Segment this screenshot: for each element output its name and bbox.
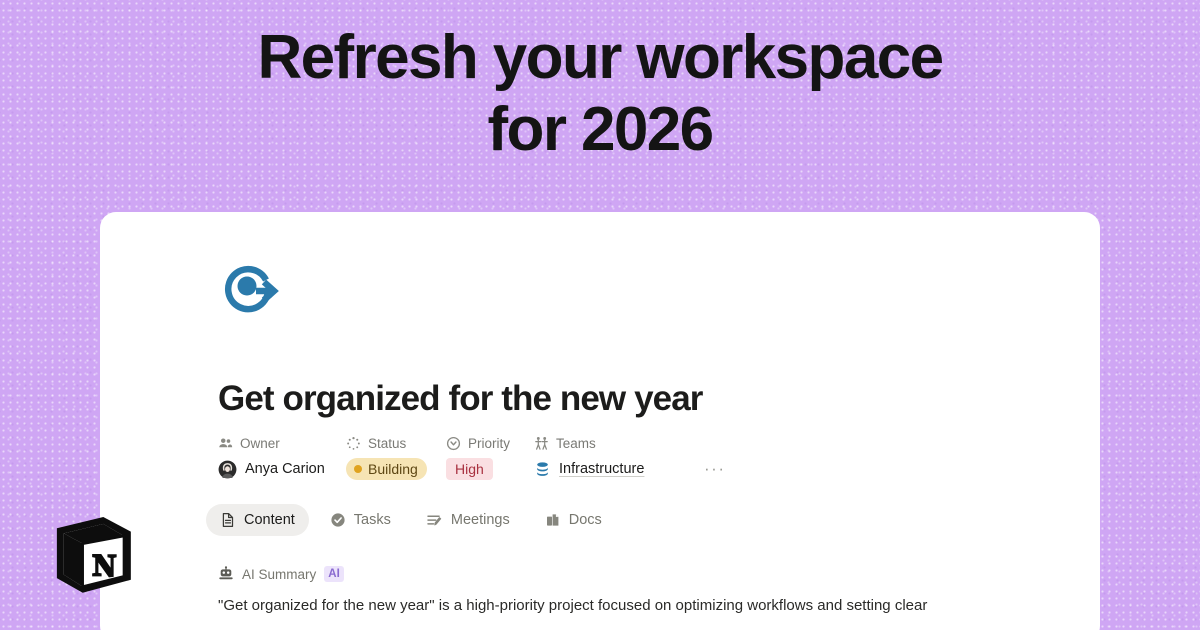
property-value-row: Anya Carion Building High <box>218 456 1100 482</box>
ai-badge: AI <box>324 566 344 582</box>
priority-badge[interactable]: High <box>446 458 493 480</box>
product-screenshot-card: Get organized for the new year Owner <box>100 212 1100 630</box>
property-status-label: Status <box>346 436 446 451</box>
ai-summary-text: "Get organized for the new year" is a hi… <box>218 594 978 617</box>
ai-summary-header: AI Summary AI <box>218 566 1100 582</box>
teams-people-icon <box>534 436 549 451</box>
tab-label: Tasks <box>354 512 391 528</box>
tab-bar: Content Tasks Meetings <box>206 504 1100 536</box>
status-badge[interactable]: Building <box>346 458 427 480</box>
document-icon <box>220 512 236 528</box>
property-teams-label: Teams <box>534 436 684 451</box>
property-label-text: Priority <box>468 436 510 451</box>
property-label-row: Owner Status <box>218 436 1100 451</box>
hero-headline: Refresh your workspace for 2026 <box>0 22 1200 166</box>
property-owner-label: Owner <box>218 436 346 451</box>
property-priority-label: Priority <box>446 436 534 451</box>
property-teams-value[interactable]: Infrastructure <box>534 461 684 478</box>
status-spinner-icon <box>346 436 361 451</box>
property-status-value[interactable]: Building <box>346 458 446 480</box>
property-priority-value[interactable]: High <box>446 458 534 480</box>
property-owner-value[interactable]: Anya Carion <box>218 460 346 479</box>
property-label-text: Owner <box>240 436 280 451</box>
more-properties-button[interactable]: ··· <box>704 464 725 474</box>
robot-icon <box>218 566 234 582</box>
user-avatar <box>218 460 237 479</box>
status-dot-icon <box>354 465 362 473</box>
tab-docs[interactable]: Docs <box>531 504 616 536</box>
stacked-pages-icon <box>545 512 561 528</box>
tab-tasks[interactable]: Tasks <box>316 504 405 536</box>
circular-arrow-target-icon <box>218 258 284 324</box>
property-label-text: Status <box>368 436 406 451</box>
teams-name: Infrastructure <box>559 461 644 477</box>
owner-name: Anya Carion <box>245 461 325 477</box>
notion-cube-logo <box>50 511 136 597</box>
page-title: Get organized for the new year <box>218 378 1100 420</box>
tab-label: Docs <box>569 512 602 528</box>
notes-pencil-icon <box>426 512 443 529</box>
check-circle-icon <box>330 512 346 528</box>
ai-summary-label: AI Summary <box>242 567 316 582</box>
status-badge-text: Building <box>368 461 418 477</box>
people-icon <box>218 436 233 451</box>
tab-content[interactable]: Content <box>206 504 309 536</box>
database-stack-icon <box>534 461 551 478</box>
tab-label: Content <box>244 512 295 528</box>
properties-section: Owner Status <box>218 436 1100 482</box>
tab-meetings[interactable]: Meetings <box>412 504 524 536</box>
tab-label: Meetings <box>451 512 510 528</box>
property-label-text: Teams <box>556 436 596 451</box>
headline-line-2: for 2026 <box>0 94 1200 166</box>
priority-target-icon <box>446 436 461 451</box>
headline-line-1: Refresh your workspace <box>0 22 1200 94</box>
